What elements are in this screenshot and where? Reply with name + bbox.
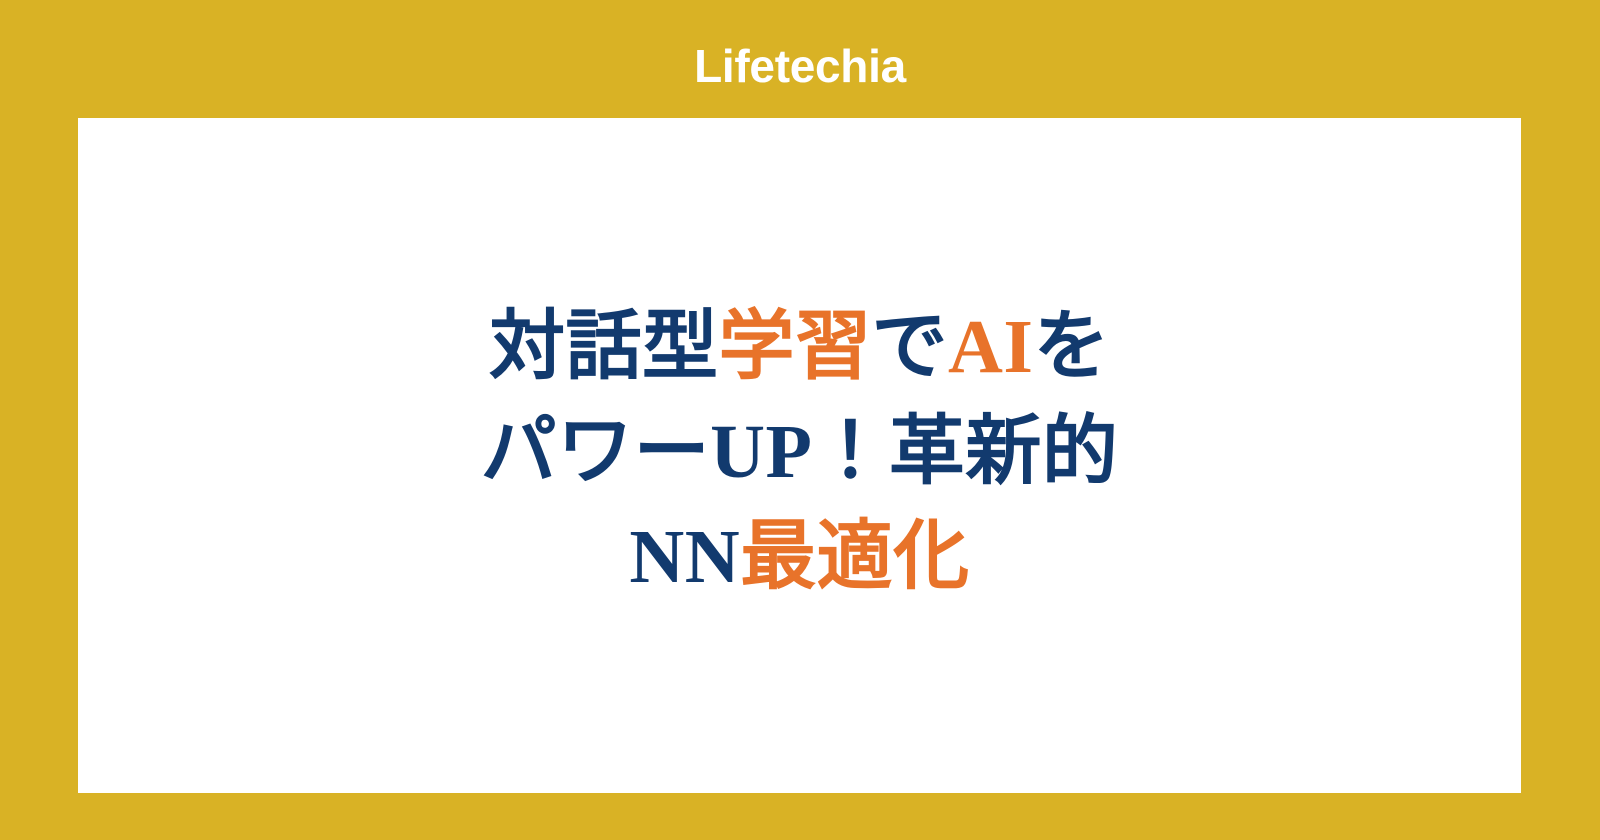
article-title-line-1: 対話型学習でAIを — [78, 295, 1521, 400]
title-segment-taiwagata: 対話型 — [489, 305, 719, 389]
title-segment-ai: AI — [948, 305, 1033, 389]
title-segment-de: で — [872, 305, 949, 389]
title-segment-wo: を — [1033, 305, 1110, 389]
article-title: 対話型学習でAIを パワーUP！革新的 NN最適化 — [78, 295, 1521, 616]
poster-canvas: Lifetechia 対話型学習でAIを パワーUP！革新的 NN最適化 — [0, 0, 1600, 840]
article-card: 対話型学習でAIを パワーUP！革新的 NN最適化 — [78, 118, 1521, 793]
title-segment-saitekika: 最適化 — [740, 515, 970, 599]
site-name-header: Lifetechia — [0, 38, 1600, 94]
title-segment-nn: NN — [629, 515, 740, 599]
article-title-line-3: NN最適化 — [78, 505, 1521, 610]
title-segment-gakushu: 学習 — [719, 305, 872, 389]
title-segment-powerup-kakushinteki: パワーUP！革新的 — [481, 410, 1119, 494]
article-title-line-2: パワーUP！革新的 — [78, 400, 1521, 505]
